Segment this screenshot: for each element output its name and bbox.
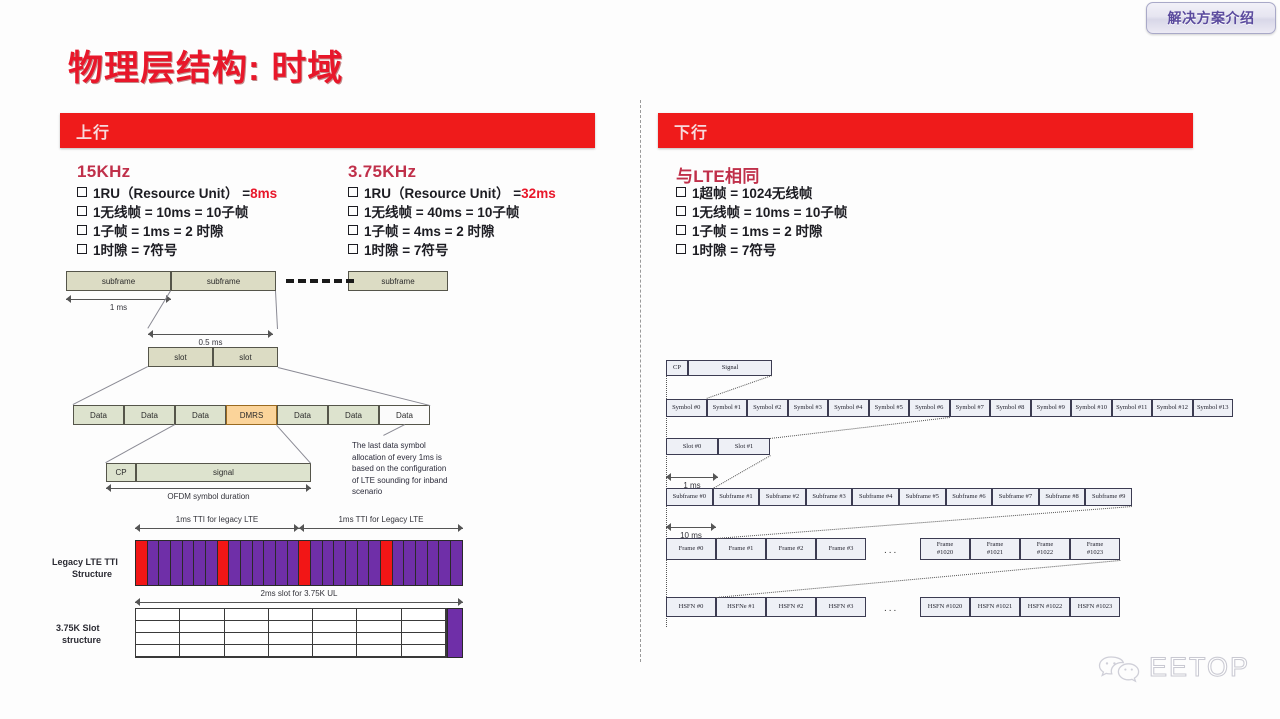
ofdm-symbol-duration-measure-bar bbox=[106, 488, 311, 489]
downlink-frame-label-wrap: Frame#1023 bbox=[1087, 541, 1104, 557]
slot-375k-cell bbox=[402, 645, 446, 657]
uplink-375khz-bullet-item: 1无线帧 = 40ms = 10子帧 bbox=[348, 203, 556, 222]
dash-mark bbox=[334, 279, 342, 283]
downlink-frame-box: Frame#1022 bbox=[1020, 538, 1070, 560]
slot-375k-purple-block bbox=[447, 608, 463, 658]
tti-caption-right-cap-left bbox=[299, 524, 304, 532]
downlink-frame-measure: 10 ms bbox=[666, 523, 716, 532]
uplink-slot-measure-bar bbox=[148, 334, 273, 335]
downlink-bullets: 1超帧 = 1024无线帧1无线帧 = 10ms = 10子帧1子帧 = 1ms… bbox=[676, 184, 847, 260]
checkbox-square-icon bbox=[77, 244, 87, 254]
slot-375k-cell bbox=[357, 621, 401, 633]
uplink-15khz-bullet-text: 1子帧 = 1ms = 2 时隙 bbox=[93, 222, 224, 241]
downlink-subframe-box: Subframe #1 bbox=[713, 488, 760, 506]
slot-375k-cell bbox=[225, 645, 269, 657]
tti-cell-purple bbox=[334, 541, 346, 585]
downlink-frame-label-wrap: Frame#1022 bbox=[1037, 541, 1054, 557]
tti-cell-purple bbox=[159, 541, 171, 585]
slot-375k-cell bbox=[180, 609, 224, 621]
tti-cell-purple bbox=[241, 541, 253, 585]
downlink-frame-label: Frame bbox=[987, 541, 1004, 549]
downlink-frame-label: #1022 bbox=[1037, 549, 1054, 557]
tti-cell-purple bbox=[428, 541, 440, 585]
slot-375k-cell bbox=[269, 645, 313, 657]
tti-caption-right-label: 1ms TTI for Legacy LTE bbox=[299, 515, 463, 524]
slot-375k-caption-label: 2ms slot for 3.75K UL bbox=[135, 589, 463, 598]
checkbox-square-icon bbox=[77, 206, 87, 216]
checkbox-square-icon bbox=[77, 225, 87, 235]
downlink-subframe-box: Subframe #3 bbox=[806, 488, 853, 506]
slot-375k-cell bbox=[402, 621, 446, 633]
downlink-bullet-text: 1子帧 = 1ms = 2 时隙 bbox=[692, 222, 823, 241]
tti-cell-red bbox=[381, 541, 393, 585]
dash-mark bbox=[298, 279, 306, 283]
downlink-frame-label: Frame bbox=[1037, 541, 1054, 549]
dash-mark bbox=[286, 279, 294, 283]
uplink-slot-measure-cap-right bbox=[268, 330, 273, 338]
checkbox-square-icon bbox=[676, 225, 686, 235]
checkbox-square-icon bbox=[348, 244, 358, 254]
downlink-frame-box: Frame#1020 bbox=[920, 538, 970, 560]
downlink-hsfn-box: HSFN #1022 bbox=[1020, 597, 1070, 617]
downlink-hsfn-box: HSFN #3 bbox=[816, 597, 866, 617]
tti-caption-left: 1ms TTI for legacy LTE bbox=[135, 524, 299, 533]
tti-cell-purple bbox=[276, 541, 288, 585]
uplink-banner-label: 上行 bbox=[76, 119, 110, 143]
uplink-375khz-bullet-text: 1无线帧 = 40ms = 10子帧 bbox=[364, 203, 519, 222]
leader-symbol-to-cp-right bbox=[276, 425, 311, 464]
uplink-15khz-bullet-accent: 8ms bbox=[250, 184, 277, 203]
uplink-signal-box: signal bbox=[136, 463, 311, 482]
uplink-cp-box: CP bbox=[106, 463, 136, 482]
downlink-bullet-text: 1无线帧 = 10ms = 10子帧 bbox=[692, 203, 847, 222]
slot-375k-cell bbox=[269, 621, 313, 633]
tti-cell-red bbox=[218, 541, 230, 585]
slot-375k-cell bbox=[225, 621, 269, 633]
slot-375k-side-label-2: structure bbox=[62, 634, 101, 646]
downlink-bullet-item: 1时隙 = 7符号 bbox=[676, 241, 847, 260]
checkbox-square-icon bbox=[676, 244, 686, 254]
downlink-frame-box: Frame #2 bbox=[766, 538, 816, 560]
uplink-bullets-15khz: 1RU（Resource Unit） = 8ms1无线帧 = 10ms = 10… bbox=[77, 184, 277, 260]
tti-cell-purple bbox=[288, 541, 300, 585]
tti-cell-purple bbox=[229, 541, 241, 585]
leader-slot-to-symbols-right bbox=[278, 367, 430, 406]
downlink-subframe-box: Subframe #9 bbox=[1085, 488, 1132, 506]
downlink-symbol-box: Symbol #9 bbox=[1031, 399, 1072, 417]
slot-375k-side-label: 3.75K Slot bbox=[56, 622, 100, 634]
tti-cell-purple bbox=[369, 541, 381, 585]
uplink-annotation-text: The last data symbol allocation of every… bbox=[352, 440, 448, 498]
leader-symbol-to-annotation bbox=[383, 424, 405, 436]
slot-375k-caption: 2ms slot for 3.75K UL bbox=[135, 598, 463, 607]
uplink-subframe-measure: 1 ms bbox=[66, 295, 171, 304]
tti-caption-left-label: 1ms TTI for legacy LTE bbox=[135, 515, 299, 524]
slot-375k-cell bbox=[402, 609, 446, 621]
downlink-subframe-box: Subframe #0 bbox=[666, 488, 713, 506]
downlink-bullet-item: 1子帧 = 1ms = 2 时隙 bbox=[676, 222, 847, 241]
slot-375k-cell bbox=[269, 609, 313, 621]
downlink-hsfn-box: HSFNe #1 bbox=[716, 597, 766, 617]
leader-cp-to-symbol0 bbox=[706, 375, 772, 399]
downlink-frame-label: #1020 bbox=[937, 549, 954, 557]
uplink-symbol-box: Data bbox=[379, 405, 430, 425]
checkbox-square-icon bbox=[676, 206, 686, 216]
uplink-symbol-box: Data bbox=[328, 405, 379, 425]
uplink-15khz-bullet-text: 1时隙 = 7符号 bbox=[93, 241, 177, 260]
tti-cell-purple bbox=[264, 541, 276, 585]
downlink-slot-measure-bar bbox=[666, 477, 718, 478]
uplink-15khz-bullet-item: 1无线帧 = 10ms = 10子帧 bbox=[77, 203, 277, 222]
page-title: 物理层结构: 时域 bbox=[68, 40, 343, 91]
downlink-frame-box: Frame#1023 bbox=[1070, 538, 1120, 560]
uplink-15khz-bullet-item: 1时隙 = 7符号 bbox=[77, 241, 277, 260]
eetop-logo: EETOP bbox=[1098, 652, 1250, 683]
downlink-hsfn-box: HSFN #0 bbox=[666, 597, 716, 617]
downlink-frame-box: Frame#1021 bbox=[970, 538, 1020, 560]
ofdm-symbol-duration-measure-label: OFDM symbol duration bbox=[106, 492, 311, 501]
slot-375k-cell bbox=[313, 645, 357, 657]
uplink-col-heading-15khz: 15KHz bbox=[77, 162, 130, 182]
ofdm-symbol-duration-measure-cap-right bbox=[306, 484, 311, 492]
slot-375k-cell bbox=[136, 633, 180, 645]
tti-cell-purple bbox=[358, 541, 370, 585]
slot-375k-caption-cap-left bbox=[135, 598, 140, 606]
downlink-symbol-box: Symbol #11 bbox=[1112, 399, 1153, 417]
downlink-symbol-box: Symbol #13 bbox=[1193, 399, 1234, 417]
downlink-hsfn-box: HSFN #2 bbox=[766, 597, 816, 617]
slot-375k-cell bbox=[269, 633, 313, 645]
downlink-symbol-box: Symbol #6 bbox=[909, 399, 950, 417]
uplink-slot-measure-cap-left bbox=[148, 330, 153, 338]
downlink-symbol-box: Symbol #10 bbox=[1071, 399, 1112, 417]
ofdm-symbol-duration-measure-cap-left bbox=[106, 484, 111, 492]
uplink-375khz-bullet-text: 1RU（Resource Unit） = bbox=[364, 184, 521, 203]
downlink-bullet-item: 1无线帧 = 10ms = 10子帧 bbox=[676, 203, 847, 222]
dash-mark bbox=[322, 279, 330, 283]
downlink-banner-label: 下行 bbox=[674, 119, 708, 143]
downlink-frame-ellipsis: ... bbox=[884, 545, 898, 556]
downlink-symbol-box: Symbol #1 bbox=[707, 399, 748, 417]
tti-caption-right: 1ms TTI for Legacy LTE bbox=[299, 524, 463, 533]
tti-cell-purple bbox=[311, 541, 323, 585]
tti-cell-purple bbox=[393, 541, 405, 585]
uplink-symbol-box: Data bbox=[73, 405, 124, 425]
slot-375k-cell bbox=[225, 609, 269, 621]
downlink-symbol-box: Symbol #7 bbox=[950, 399, 991, 417]
leader-slot-to-symbols bbox=[770, 417, 950, 439]
uplink-15khz-bullet-item: 1RU（Resource Unit） = 8ms bbox=[77, 184, 277, 203]
uplink-375khz-bullet-item: 1子帧 = 4ms = 2 时隙 bbox=[348, 222, 556, 241]
downlink-slot-measure: 1 ms bbox=[666, 473, 718, 482]
tti-caption-left-bar bbox=[135, 528, 299, 529]
uplink-banner: 上行 bbox=[60, 113, 595, 148]
tti-cell-purple bbox=[148, 541, 160, 585]
uplink-subframe-measure-cap-left bbox=[66, 295, 71, 303]
downlink-bullet-text: 1时隙 = 7符号 bbox=[692, 241, 776, 260]
slide-canvas: 解决方案介绍 物理层结构: 时域 上行 下行 15KHz 1RU（Resourc… bbox=[0, 0, 1280, 719]
leader-symbol-to-cp-left bbox=[106, 424, 175, 463]
tti-cell-purple bbox=[346, 541, 358, 585]
tti-cell-red bbox=[136, 541, 148, 585]
tti-cell-purple bbox=[183, 541, 195, 585]
checkbox-square-icon bbox=[348, 187, 358, 197]
downlink-frame-label: Frame bbox=[1087, 541, 1104, 549]
uplink-slot-measure-label: 0.5 ms bbox=[148, 338, 273, 347]
downlink-hsfn-box: HSFN #1021 bbox=[970, 597, 1020, 617]
uplink-15khz-bullet-item: 1子帧 = 1ms = 2 时隙 bbox=[77, 222, 277, 241]
uplink-375khz-bullet-accent: 32ms bbox=[521, 184, 556, 203]
corner-tab-label: 解决方案介绍 bbox=[1168, 8, 1255, 28]
legacy-lte-tti-side-label: Legacy LTE TTI bbox=[52, 556, 118, 568]
tti-cell-purple bbox=[323, 541, 335, 585]
slot-375k-cell bbox=[180, 633, 224, 645]
checkbox-square-icon bbox=[348, 206, 358, 216]
uplink-symbol-box: Data bbox=[175, 405, 226, 425]
slot-375k-caption-cap-right bbox=[458, 598, 463, 606]
leader-slot-to-symbols-left bbox=[73, 366, 148, 405]
uplink-15khz-bullet-text: 1RU（Resource Unit） = bbox=[93, 184, 250, 203]
tti-cell-purple bbox=[451, 541, 462, 585]
vertical-divider bbox=[640, 100, 641, 662]
slot-375k-cell bbox=[136, 609, 180, 621]
slot-375k-cell bbox=[357, 609, 401, 621]
uplink-375khz-bullet-text: 1子帧 = 4ms = 2 时隙 bbox=[364, 222, 495, 241]
slot-375k-cell bbox=[136, 621, 180, 633]
uplink-subframe-measure-bar bbox=[66, 299, 171, 300]
leader-subframe-to-slot bbox=[713, 455, 771, 489]
slot-375k-cell bbox=[357, 633, 401, 645]
downlink-hsfn-ellipsis: ... bbox=[884, 603, 898, 614]
uplink-symbol-box: Data bbox=[277, 405, 328, 425]
legacy-lte-tti-side-label-2: Structure bbox=[72, 568, 112, 580]
downlink-frame-box: Frame #3 bbox=[816, 538, 866, 560]
downlink-symbol-box: Symbol #8 bbox=[990, 399, 1031, 417]
leader-frame-to-subframe bbox=[716, 506, 1132, 539]
downlink-slot-measure-cap-left bbox=[666, 473, 671, 481]
downlink-symbol-box: Symbol #2 bbox=[747, 399, 788, 417]
tti-cell-purple bbox=[206, 541, 218, 585]
downlink-subframe-box: Subframe #6 bbox=[946, 488, 993, 506]
downlink-subframe-box: Subframe #5 bbox=[899, 488, 946, 506]
dash-mark bbox=[310, 279, 318, 283]
downlink-hsfn-box: HSFN #1020 bbox=[920, 597, 970, 617]
downlink-subframe-box: Subframe #8 bbox=[1039, 488, 1086, 506]
downlink-symbol-box: Symbol #4 bbox=[828, 399, 869, 417]
downlink-frame-box: Frame #1 bbox=[716, 538, 766, 560]
wechat-bubbles-icon bbox=[1098, 653, 1142, 683]
downlink-subframe-box: Subframe #2 bbox=[759, 488, 806, 506]
slot-375k-cell bbox=[313, 621, 357, 633]
tti-cell-purple bbox=[416, 541, 428, 585]
slot-375k-cell bbox=[313, 609, 357, 621]
downlink-hsfn-box: HSFN #1023 bbox=[1070, 597, 1120, 617]
downlink-subframe-box: Subframe #7 bbox=[992, 488, 1039, 506]
leader-subframe-to-slot-right bbox=[275, 291, 278, 329]
tti-caption-right-cap-right bbox=[458, 524, 463, 532]
downlink-frame-label: #1023 bbox=[1087, 549, 1104, 557]
uplink-15khz-bullet-text: 1无线帧 = 10ms = 10子帧 bbox=[93, 203, 248, 222]
uplink-slot-measure: 0.5 ms bbox=[148, 330, 273, 339]
tti-cell-red bbox=[299, 541, 311, 585]
uplink-slot-box: slot bbox=[148, 347, 213, 367]
tti-cell-purple bbox=[194, 541, 206, 585]
uplink-bullets-375khz: 1RU（Resource Unit） = 32ms1无线帧 = 40ms = 1… bbox=[348, 184, 556, 260]
checkbox-square-icon bbox=[348, 225, 358, 235]
downlink-cp-box: CP bbox=[666, 360, 688, 376]
legacy-lte-tti-row bbox=[135, 540, 463, 586]
downlink-frame-label: Frame bbox=[937, 541, 954, 549]
ellipsis-dashes bbox=[286, 279, 354, 283]
downlink-frame-measure-cap-right bbox=[711, 523, 716, 531]
corner-tab-solution-intro[interactable]: 解决方案介绍 bbox=[1146, 2, 1276, 34]
uplink-subframe-box: subframe bbox=[66, 271, 171, 291]
tti-cell-purple bbox=[171, 541, 183, 585]
downlink-frame-label-wrap: Frame#1021 bbox=[987, 541, 1004, 557]
uplink-375khz-bullet-item: 1时隙 = 7符号 bbox=[348, 241, 556, 260]
slot-375k-grid bbox=[135, 608, 447, 658]
uplink-375khz-bullet-item: 1RU（Resource Unit） = 32ms bbox=[348, 184, 556, 203]
slot-375k-caption-bar bbox=[135, 602, 463, 603]
downlink-bullet-text: 1超帧 = 1024无线帧 bbox=[692, 184, 812, 203]
downlink-slot-box: Slot #1 bbox=[718, 438, 770, 455]
tti-caption-right-bar bbox=[299, 528, 463, 529]
uplink-slot-box: slot bbox=[213, 347, 278, 367]
uplink-symbol-box: DMRS bbox=[226, 405, 277, 425]
downlink-signal-box: Signal bbox=[688, 360, 772, 376]
uplink-symbol-box: Data bbox=[124, 405, 175, 425]
checkbox-square-icon bbox=[77, 187, 87, 197]
downlink-frame-measure-bar bbox=[666, 527, 716, 528]
downlink-subframe-box: Subframe #4 bbox=[852, 488, 899, 506]
downlink-frame-measure-cap-left bbox=[666, 523, 671, 531]
slot-375k-cell bbox=[136, 645, 180, 657]
downlink-symbol-box: Symbol #5 bbox=[869, 399, 910, 417]
checkbox-square-icon bbox=[676, 187, 686, 197]
downlink-bullet-item: 1超帧 = 1024无线帧 bbox=[676, 184, 847, 203]
slot-375k-cell bbox=[225, 633, 269, 645]
uplink-col-heading-375khz: 3.75KHz bbox=[348, 162, 416, 182]
slot-375k-cell bbox=[313, 633, 357, 645]
uplink-subframe-measure-label: 1 ms bbox=[66, 303, 171, 312]
downlink-slot-box: Slot #0 bbox=[666, 438, 718, 455]
downlink-frame-label: #1021 bbox=[987, 549, 1004, 557]
tti-cell-purple bbox=[404, 541, 416, 585]
logo-text: EETOP bbox=[1149, 652, 1250, 683]
uplink-375khz-bullet-text: 1时隙 = 7符号 bbox=[364, 241, 448, 260]
slot-375k-cell bbox=[402, 633, 446, 645]
downlink-frame-label-wrap: Frame#1020 bbox=[937, 541, 954, 557]
downlink-banner: 下行 bbox=[658, 113, 1193, 148]
downlink-symbol-box: Symbol #0 bbox=[666, 399, 707, 417]
uplink-subframe-box: subframe bbox=[348, 271, 448, 291]
tti-cell-purple bbox=[439, 541, 451, 585]
slot-375k-cell bbox=[357, 645, 401, 657]
ofdm-symbol-duration-measure: OFDM symbol duration bbox=[106, 484, 311, 493]
leader-hsfn-to-frame bbox=[716, 560, 1120, 598]
downlink-symbol-box: Symbol #3 bbox=[788, 399, 829, 417]
downlink-frame-box: Frame #0 bbox=[666, 538, 716, 560]
slot-375k-cell bbox=[180, 621, 224, 633]
downlink-symbol-box: Symbol #12 bbox=[1152, 399, 1193, 417]
uplink-subframe-box: subframe bbox=[171, 271, 276, 291]
tti-cell-purple bbox=[253, 541, 265, 585]
downlink-slot-measure-cap-right bbox=[713, 473, 718, 481]
dash-mark bbox=[346, 279, 354, 283]
slot-375k-cell bbox=[180, 645, 224, 657]
tti-caption-left-cap-left bbox=[135, 524, 140, 532]
